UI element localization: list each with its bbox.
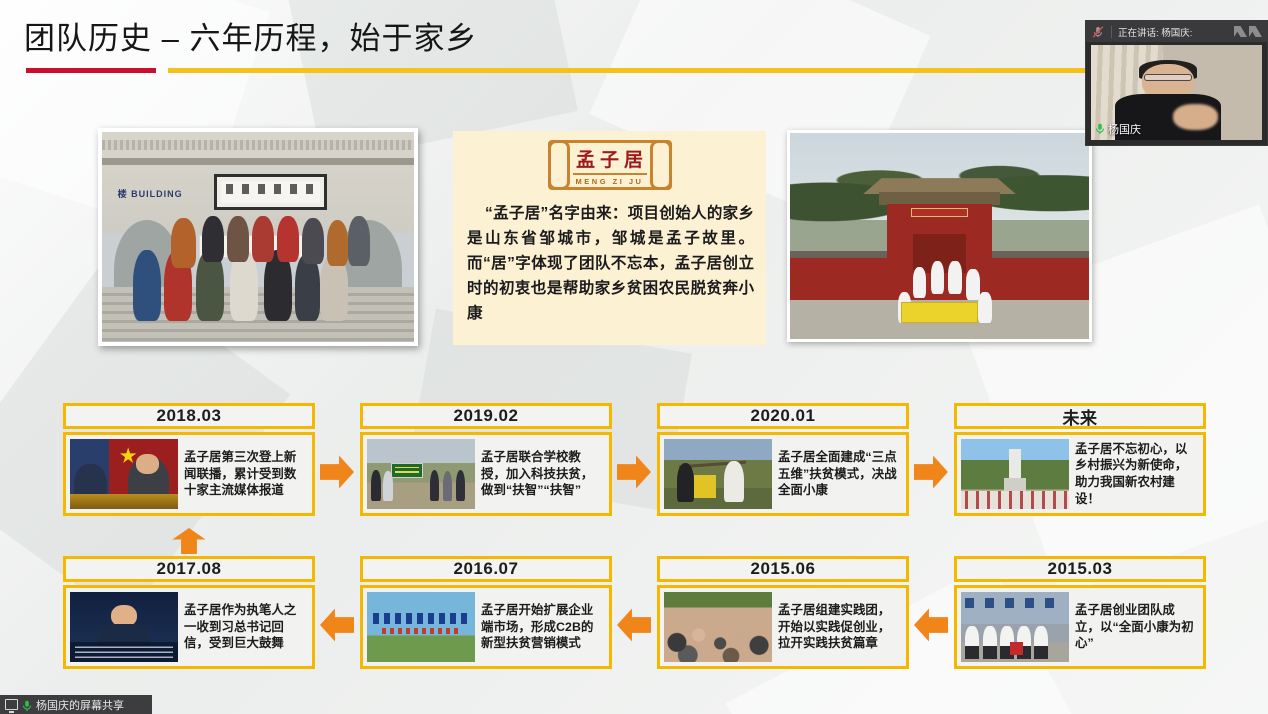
- arrow-left-icon: [617, 607, 651, 643]
- slide-title-wrap: 团队历史 – 六年历程，始于家乡: [24, 13, 477, 58]
- timeline-text: 孟子居不忘初心，以乡村振兴为新使命，助力我国新农村建设！: [1075, 439, 1199, 509]
- timeline-card: 2015.03 孟子居创业团队成立，以“全面小康为初心”: [954, 556, 1206, 669]
- person-figure: [1034, 626, 1048, 660]
- person-figure: [327, 220, 349, 266]
- share-bar-label: 杨国庆的屏幕共享: [36, 697, 124, 713]
- crowd-row: [961, 491, 1069, 509]
- timeline-text: 孟子居第三次登上新闻联播，累计受到数十家主流媒体报道: [184, 439, 308, 509]
- person-figure: [978, 292, 991, 323]
- billboard-subline: [382, 628, 458, 634]
- mic-muted-icon[interactable]: [1091, 25, 1105, 39]
- chevron-right-glyph: [1249, 26, 1262, 37]
- timeline-card-body: 孟子居联合学校教授，加入科技扶贫，做到“扶智”“扶智”: [360, 432, 612, 516]
- arrow-right-icon: [914, 454, 948, 490]
- person-figure: [74, 464, 106, 509]
- timeline-date: 2020.01: [657, 403, 909, 429]
- timeline-card: 2018.03 孟子居第三次登上新闻联播，累计受到数十家主流媒体报道: [63, 403, 315, 516]
- mic-on-icon: [22, 699, 32, 711]
- timeline-date: 2019.02: [360, 403, 612, 429]
- person-figure: [227, 216, 249, 262]
- person-figure: [383, 471, 393, 500]
- timeline-card-body: 孟子居全面建成“三点五维”扶贫模式，决战全面小康: [657, 432, 909, 516]
- speaking-label: 正在讲话: 杨国庆:: [1118, 25, 1228, 39]
- brand-origin-card: 孟子居 MENG ZI JU “孟子居”名字由来：项目创始人的家乡是山东省邹城市…: [453, 131, 766, 345]
- timeline-date: 2017.08: [63, 556, 315, 582]
- billboard-headline: [373, 613, 468, 624]
- storefront: [961, 592, 1069, 624]
- timeline-card-body: 孟子居不忘初心，以乡村振兴为新使命，助力我国新农村建设！: [954, 432, 1206, 516]
- video-panel-header[interactable]: 正在讲话: 杨国庆:: [1086, 21, 1267, 42]
- person-figure: [202, 216, 224, 262]
- timeline-card-body: 孟子居第三次登上新闻联播，累计受到数十家主流媒体报道: [63, 432, 315, 516]
- person-figure: [724, 461, 743, 502]
- field-sign-thumb: [367, 439, 475, 509]
- campus-group-thumb: [961, 439, 1069, 509]
- timeline-card: 2016.07 孟子居开始扩展企业端市场，形成C2B的新型扶贫营销模式: [360, 556, 612, 669]
- statue-base: [1004, 478, 1026, 491]
- logo-divider: [573, 173, 647, 175]
- person-figure: [456, 470, 466, 501]
- participant-glasses: [1144, 74, 1192, 81]
- timeline-date: 2016.07: [360, 556, 612, 582]
- building-plaque: [214, 174, 326, 210]
- gate-plaque: [911, 208, 969, 217]
- person-figure: [430, 470, 440, 501]
- presentation-slide: 团队历史 – 六年历程，始于家乡 楼 BUILDING 孟子居: [0, 0, 1268, 714]
- timeline-card: 2017.08 孟子居作为执笔人之一收到习总书记回信，受到巨大鼓舞: [63, 556, 315, 669]
- timeline-text: 孟子居全面建成“三点五维”扶贫模式，决战全面小康: [778, 439, 902, 509]
- timeline-card-body: 孟子居作为执笔人之一收到习总书记回信，受到巨大鼓舞: [63, 585, 315, 669]
- person-figure: [966, 269, 979, 300]
- temple-group-photo: [787, 130, 1092, 342]
- timeline-card-body: 孟子居组建实践团，开始以实践促创业，拉开实践扶贫篇章: [657, 585, 909, 669]
- logo-name-en: MENG ZI JU: [576, 177, 644, 186]
- brand-origin-text: “孟子居”名字由来：项目创始人的家乡是山东省邹城市，邹城是孟子故里。而“居”字体…: [467, 201, 754, 327]
- timeline-text: 孟子居开始扩展企业端市场，形成C2B的新型扶贫营销模式: [481, 592, 605, 662]
- participant-hand: [1173, 104, 1217, 131]
- timeline-text: 孟子居组建实践团，开始以实践促创业，拉开实践扶贫篇章: [778, 592, 902, 662]
- carry-basket: [694, 475, 716, 497]
- team-group-photo: 楼 BUILDING: [98, 128, 418, 346]
- video-thumbnail-panel[interactable]: 正在讲话: 杨国庆: 杨国庆: [1085, 20, 1268, 146]
- participant-name-overlay: 杨国庆: [1095, 121, 1141, 137]
- chevron-collapse-icon[interactable]: [1234, 26, 1262, 37]
- person-figure: [965, 626, 979, 660]
- timeline-card: 2020.01 孟子居全面建成“三点五维”扶贫模式，决战全面小康: [657, 403, 909, 516]
- title-underline-gold: [168, 68, 1123, 73]
- header-divider: [1111, 26, 1112, 38]
- timeline-card: 2015.06 孟子居组建实践团，开始以实践促创业，拉开实践扶贫篇章: [657, 556, 909, 669]
- timeline-date: 2015.06: [657, 556, 909, 582]
- photo-banner: [901, 302, 979, 323]
- person-figure: [371, 470, 381, 501]
- temple-gate: [874, 174, 1006, 273]
- timeline-card-body: 孟子居开始扩展企业端市场，形成C2B的新型扶贫营销模式: [360, 585, 612, 669]
- arrow-left-icon: [320, 607, 354, 643]
- village-crowd-thumb: [664, 592, 772, 662]
- person-face: [136, 454, 159, 474]
- facade-cornice: [102, 140, 414, 150]
- field-signboard: [391, 463, 423, 478]
- logo-name-cn: 孟子居: [571, 145, 648, 172]
- person-figure: [931, 261, 944, 294]
- person-figure: [443, 471, 453, 501]
- timeline-date: 未来: [954, 403, 1206, 429]
- mic-on-icon: [1095, 123, 1105, 135]
- timeline-date: 2015.03: [954, 556, 1206, 582]
- screen-share-icon: [5, 699, 18, 710]
- person-figure: [677, 463, 694, 502]
- carrying-goods-thumb: [664, 439, 772, 509]
- news-anchor-thumb: [70, 592, 178, 662]
- cctv-interview-thumb: [70, 439, 178, 509]
- gate-roof: [863, 174, 1016, 194]
- timeline-text: 孟子居作为执笔人之一收到习总书记回信，受到巨大鼓舞: [184, 592, 308, 662]
- timeline-date: 2018.03: [63, 403, 315, 429]
- participant-face: [1142, 64, 1193, 98]
- timeline-card-body: 孟子居创业团队成立，以“全面小康为初心”: [954, 585, 1206, 669]
- timeline-card: 2019.02 孟子居联合学校教授，加入科技扶贫，做到“扶智”“扶智”: [360, 403, 612, 516]
- title-underline-red: [26, 68, 156, 73]
- person-figure: [913, 267, 926, 298]
- chevron-left-glyph: [1234, 26, 1247, 37]
- mengziju-logo: 孟子居 MENG ZI JU: [548, 140, 672, 190]
- person-figure: [348, 216, 370, 266]
- red-bag: [1010, 642, 1023, 655]
- timeline-text: 孟子居联合学校教授，加入科技扶贫，做到“扶智”“扶智”: [481, 439, 605, 509]
- video-stream[interactable]: 杨国庆: [1091, 45, 1262, 140]
- person-figure: [171, 218, 196, 268]
- screen-share-bar[interactable]: 杨国庆的屏幕共享: [0, 695, 152, 714]
- timeline-card: 未来 孟子居不忘初心，以乡村振兴为新使命，助力我国新农村建设！: [954, 403, 1206, 516]
- person-figure: [252, 216, 274, 262]
- billboard-thumb: [367, 592, 475, 662]
- news-ticker: [70, 642, 178, 662]
- person-figure: [133, 250, 161, 321]
- facade-band: [102, 158, 414, 165]
- arrow-right-icon: [320, 454, 354, 490]
- building-sign-text: 楼 BUILDING: [118, 187, 183, 200]
- timeline-text: 孟子居创业团队成立，以“全面小康为初心”: [1075, 592, 1199, 662]
- person-figure: [302, 218, 324, 264]
- title-underline: [26, 68, 1123, 73]
- participant-name: 杨国庆: [1108, 121, 1141, 137]
- person-figure: [948, 261, 961, 294]
- person-figure: [277, 216, 299, 262]
- founding-team-thumb: [961, 592, 1069, 662]
- page-title: 团队历史 – 六年历程，始于家乡: [24, 13, 477, 58]
- person-figure: [983, 626, 997, 660]
